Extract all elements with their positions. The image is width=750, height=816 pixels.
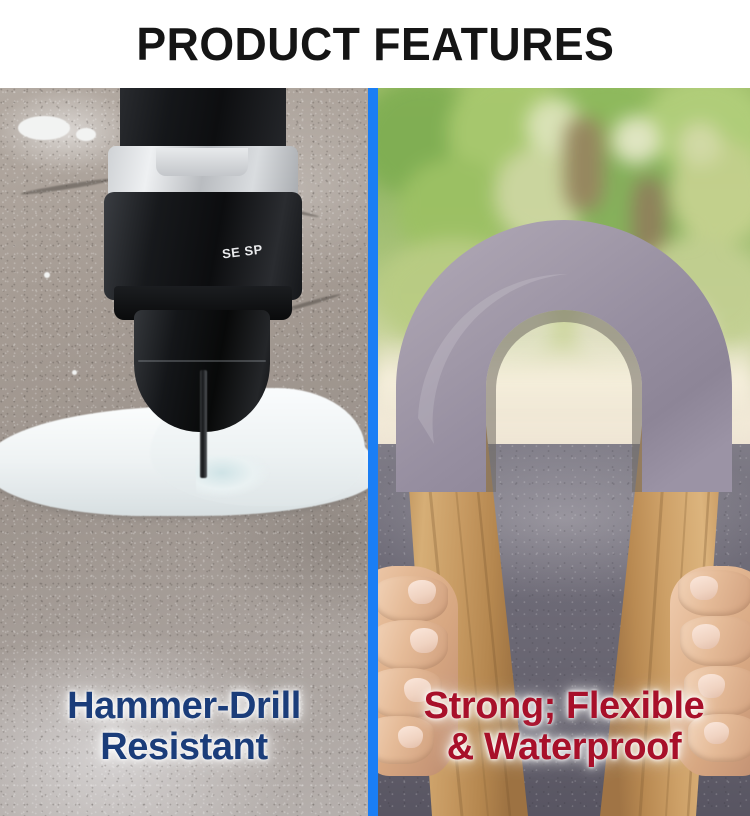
sealant-spot-tiny: [76, 128, 96, 141]
caption-hammer-drill-resistant: Hammer-Drill Resistant: [0, 686, 368, 768]
caption-strong-flexible-waterproof: Strong; Flexible & Waterproof: [378, 686, 750, 768]
page-header: PRODUCT FEATURES: [0, 0, 750, 88]
fingernail-left-1: [408, 580, 436, 604]
drill-collar-notch: [156, 148, 248, 176]
product-features-page: PRODUCT FEATURES: [0, 0, 750, 816]
feature-panel-hammer-drill-resistant: SE SP Hammer-Drill Resistant: [0, 88, 368, 816]
caption-line-1: Strong; Flexible: [378, 686, 750, 727]
drill-housing-mid: [104, 192, 302, 300]
page-title: PRODUCT FEATURES: [136, 21, 614, 67]
feature-panel-strong-flexible-waterproof: Strong; Flexible & Waterproof: [378, 88, 750, 816]
fingernail-right-1: [690, 576, 718, 600]
caption-line-2: & Waterproof: [378, 727, 750, 768]
drill-chuck-seam: [138, 360, 266, 362]
feature-panels: SE SP Hammer-Drill Resistant: [0, 88, 750, 816]
drill-bit: [200, 370, 207, 478]
fingernail-left-2: [410, 628, 438, 653]
panel-divider: [368, 88, 378, 816]
sealant-fleck-a: [44, 272, 50, 278]
caption-line-1: Hammer-Drill: [0, 686, 368, 727]
sealant-spot-small: [18, 116, 70, 140]
sealant-fleck-b: [72, 370, 77, 375]
caption-line-2: Resistant: [0, 727, 368, 768]
fingernail-right-2: [692, 624, 720, 649]
sealant-drill-splash: [196, 456, 270, 498]
bend-inner-shadow: [486, 310, 642, 492]
